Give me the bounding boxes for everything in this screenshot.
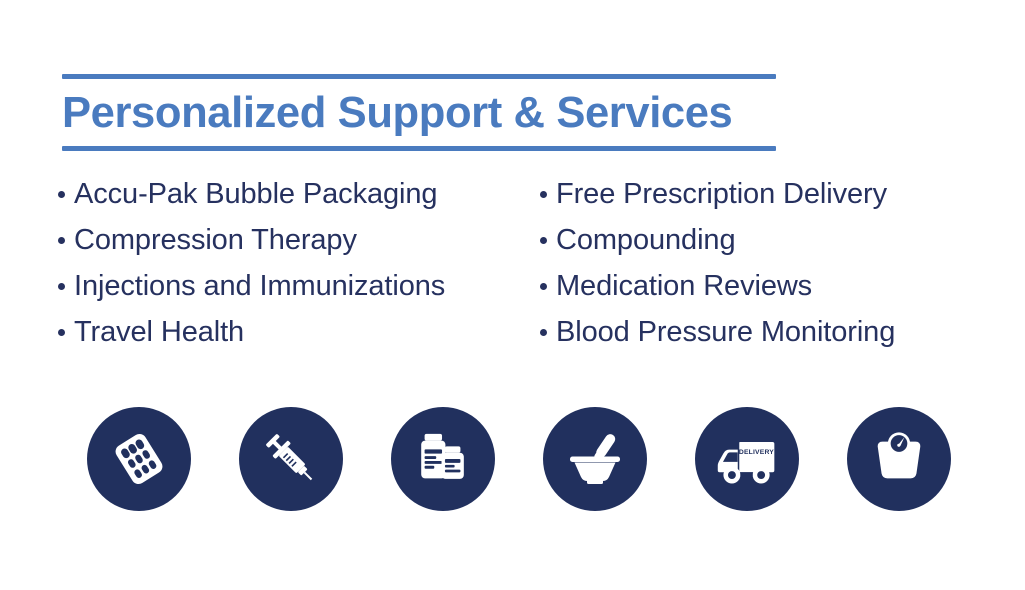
service-label: Injections and Immunizations: [74, 270, 445, 303]
service-label: Compression Therapy: [74, 224, 357, 257]
blister-pack-icon: [107, 427, 171, 491]
page-title: Personalized Support & Services: [62, 82, 769, 144]
icon-badge-pill-bottles: [391, 407, 495, 511]
title-block: Personalized Support & Services: [62, 74, 776, 151]
title-rule-top: [62, 74, 776, 79]
icon-row: DELIVERY: [87, 407, 967, 511]
mortar-pestle-icon: [563, 427, 627, 491]
services-column-left: Accu-Pak Bubble Packaging Compression Th…: [52, 178, 542, 362]
truck-delivery-text: DELIVERY: [739, 449, 774, 456]
service-label: Compounding: [556, 224, 735, 257]
icon-badge-mortar-pestle: [543, 407, 647, 511]
list-item: Compression Therapy: [52, 224, 542, 270]
list-item: Accu-Pak Bubble Packaging: [52, 178, 542, 224]
list-item: Free Prescription Delivery: [534, 178, 1004, 224]
title-rule-bottom: [62, 146, 776, 151]
service-label: Accu-Pak Bubble Packaging: [74, 178, 437, 211]
service-label: Travel Health: [74, 316, 244, 349]
delivery-truck-icon: DELIVERY: [714, 426, 780, 492]
pill-bottles-icon: [412, 428, 474, 490]
service-label: Blood Pressure Monitoring: [556, 316, 895, 349]
services-lists: Accu-Pak Bubble Packaging Compression Th…: [0, 178, 1025, 362]
list-item: Compounding: [534, 224, 1004, 270]
syringe-icon: [259, 427, 323, 491]
icon-badge-blister-pack: [87, 407, 191, 511]
weight-scale-icon: [868, 428, 930, 490]
service-label: Medication Reviews: [556, 270, 812, 303]
list-item: Travel Health: [52, 316, 542, 362]
list-item: Injections and Immunizations: [52, 270, 542, 316]
slide-canvas: Personalized Support & Services Accu-Pak…: [0, 0, 1025, 590]
list-item: Blood Pressure Monitoring: [534, 316, 1004, 362]
icon-badge-delivery-truck: DELIVERY: [695, 407, 799, 511]
services-column-right: Free Prescription Delivery Compounding M…: [534, 178, 1004, 362]
list-item: Medication Reviews: [534, 270, 1004, 316]
icon-badge-syringe: [239, 407, 343, 511]
icon-badge-weight-scale: [847, 407, 951, 511]
service-label: Free Prescription Delivery: [556, 178, 887, 211]
